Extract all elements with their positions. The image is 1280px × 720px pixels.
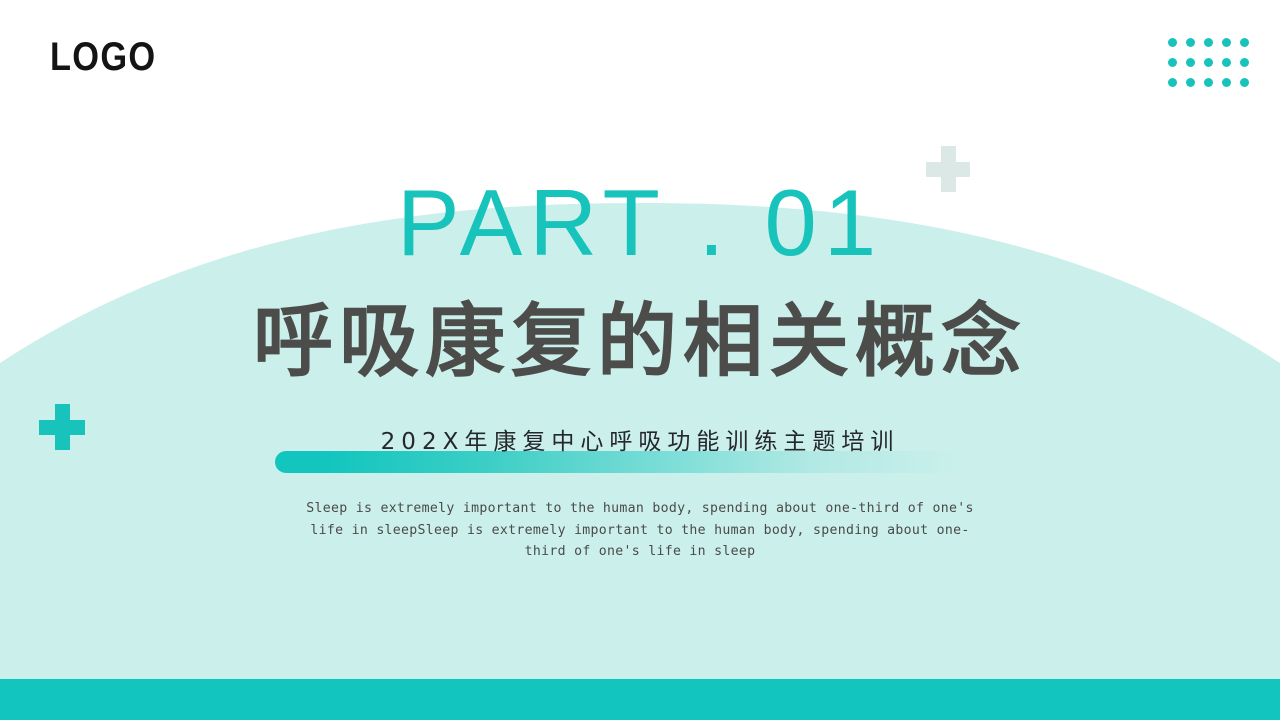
grid-dot: [1240, 78, 1249, 87]
grid-dot: [1168, 58, 1177, 67]
grid-dot: [1168, 78, 1177, 87]
subtitle: 202X年康复中心呼吸功能训练主题培训: [0, 425, 1280, 459]
page-title: 呼吸康复的相关概念: [0, 302, 1280, 382]
grid-dot: [1240, 58, 1249, 67]
logo[interactable]: LOGO: [50, 37, 156, 77]
grid-dot: [1222, 78, 1231, 87]
grid-dot: [1222, 38, 1231, 47]
dot-grid: [1168, 38, 1258, 98]
grid-dot: [1204, 78, 1213, 87]
grid-dot: [1186, 38, 1195, 47]
footer-bar: [0, 679, 1280, 720]
grid-dot: [1222, 58, 1231, 67]
subtitle-block: 202X年康复中心呼吸功能训练主题培训: [0, 425, 1280, 475]
grid-dot: [1168, 38, 1177, 47]
body-paragraph: Sleep is extremely important to the huma…: [293, 498, 987, 563]
grid-dot: [1186, 78, 1195, 87]
grid-dot: [1186, 58, 1195, 67]
part-label: PART . 01: [0, 176, 1280, 270]
slide-canvas: LOGO PART . 01 呼吸康复的相关概念 202X年康复中心呼吸功能训练…: [0, 0, 1280, 720]
grid-dot: [1240, 38, 1249, 47]
grid-dot: [1204, 58, 1213, 67]
grid-dot: [1204, 38, 1213, 47]
